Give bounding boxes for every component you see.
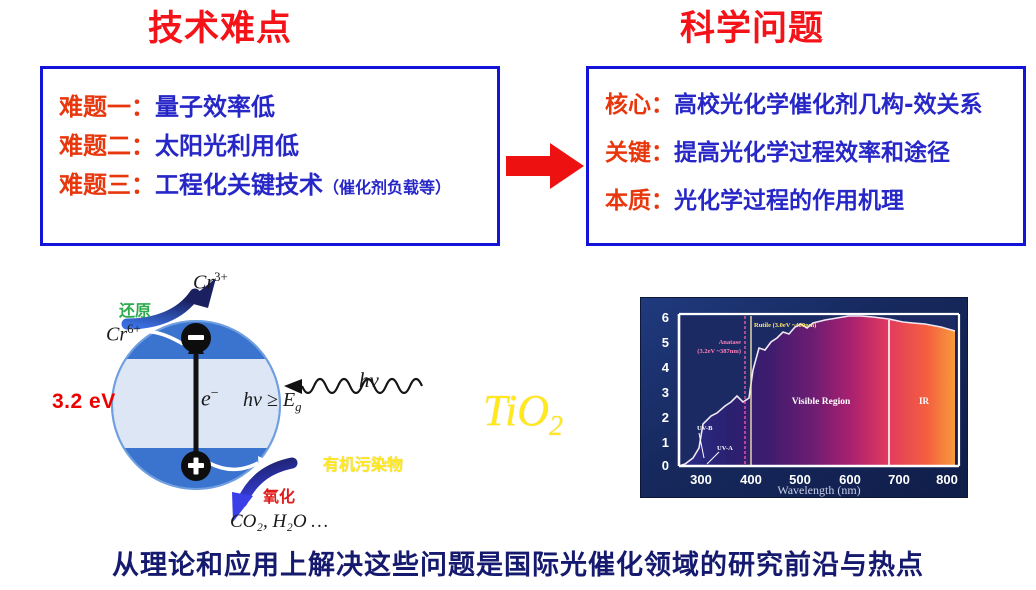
solar-spectrum-chart: 6 5 4 3 2 1 0 300 400 500 600 700 800 Vi… xyxy=(641,298,967,497)
difficulty-2-text: 太阳光利用低 xyxy=(155,126,299,161)
x-tick-label: 400 xyxy=(740,472,762,487)
question-3-label: 本质： xyxy=(605,181,674,215)
list-item: 难题一： 量子效率低 xyxy=(59,87,497,122)
question-list: 核心： 高校光化学催化剂几构-效关系 关键： 提高光化学过程效率和途径 本质： … xyxy=(589,69,1023,215)
pollutant-label: 有机污染物 xyxy=(323,451,403,475)
band-gap-value: 3.2 eV xyxy=(52,390,116,414)
oxidation-label: 氧化 xyxy=(263,483,295,507)
material-label-subscript: 2 xyxy=(549,411,563,442)
list-item: 难题三： 工程化关键技术 （催化剂负载等） xyxy=(59,165,497,200)
difficulty-3-text: 工程化关键技术 xyxy=(155,165,323,200)
question-2-label: 关键： xyxy=(605,133,674,167)
solar-spectrum-figure: 6 5 4 3 2 1 0 300 400 500 600 700 800 Vi… xyxy=(640,297,968,498)
visible-region-annotation: Visible Region xyxy=(792,397,851,407)
species-in-label: Cr6+ xyxy=(106,322,141,347)
photon-label: hν xyxy=(359,368,379,393)
excitation-condition-label: hν ≥ Eg xyxy=(243,389,301,415)
products-label: CO₂, H₂O … xyxy=(230,511,328,533)
x-axis-title: Wavelength (nm) xyxy=(777,483,860,497)
uv-b-annotation: UV-B xyxy=(697,425,713,432)
rutile-annotation: Rutile (3.0eV ~400nm) xyxy=(754,322,816,329)
x-tick-label: 800 xyxy=(936,472,958,487)
scientific-questions-panel: 核心： 高校光化学催化剂几构-效关系 关键： 提高光化学过程效率和途径 本质： … xyxy=(586,66,1026,246)
electron-symbol: e xyxy=(201,385,211,410)
electron-charge: − xyxy=(211,385,219,401)
list-item: 关键： 提高光化学过程效率和途径 xyxy=(605,133,1023,167)
species-out-label: Cr3+ xyxy=(193,270,228,295)
question-1-label: 核心： xyxy=(605,85,674,119)
y-tick-label: 3 xyxy=(662,385,669,400)
material-label: TiO2 xyxy=(483,385,563,443)
difficulty-list: 难题一： 量子效率低 难题二： 太阳光利用低 难题三： 工程化关键技术 （催化剂… xyxy=(43,69,497,200)
species-out-symbol: Cr xyxy=(193,272,214,294)
y-tick-label: 4 xyxy=(662,360,670,375)
excitation-condition-subscript: g xyxy=(295,400,301,414)
anatase-annotation-line1: Anatase xyxy=(719,339,742,346)
y-tick-label: 0 xyxy=(662,458,669,473)
species-in-charge: 6+ xyxy=(127,322,141,336)
x-tick-label: 300 xyxy=(690,472,712,487)
list-item: 核心： 高校光化学催化剂几构-效关系 xyxy=(605,85,1023,119)
y-tick-label: 2 xyxy=(662,410,669,425)
difficulty-3-label: 难题三： xyxy=(59,165,155,200)
right-section-title: 科学问题 xyxy=(680,8,824,50)
electron-label: e− xyxy=(201,385,219,411)
reduction-label: 还原 xyxy=(119,297,151,321)
material-label-text: TiO xyxy=(483,386,549,435)
anatase-annotation-line2: (3.2eV ~387nm) xyxy=(697,348,741,355)
hole-marker xyxy=(181,451,211,481)
excitation-condition-text: hν ≥ E xyxy=(243,389,295,411)
list-item: 难题二： 太阳光利用低 xyxy=(59,126,497,161)
y-tick-label: 6 xyxy=(662,310,669,325)
species-out-charge: 3+ xyxy=(214,270,228,284)
difficulty-2-label: 难题二： xyxy=(59,126,155,161)
x-tick-label: 700 xyxy=(888,472,910,487)
difficulty-1-label: 难题一： xyxy=(59,87,155,122)
species-in-symbol: Cr xyxy=(106,324,127,346)
y-tick-label: 1 xyxy=(662,435,669,450)
electron-marker xyxy=(181,323,211,353)
question-1-text: 高校光化学催化剂几构-效关系 xyxy=(674,85,983,119)
list-item: 本质： 光化学过程的作用机理 xyxy=(605,181,1023,215)
difficulty-1-text: 量子效率低 xyxy=(155,87,275,122)
question-2-text: 提高光化学过程效率和途径 xyxy=(674,133,950,167)
conclusion-text: 从理论和应用上解决这些问题是国际光催化领域的研究前沿与热点 xyxy=(0,543,1036,582)
left-section-title: 技术难点 xyxy=(148,8,292,50)
right-arrow-icon xyxy=(506,140,584,192)
ir-annotation: IR xyxy=(919,396,930,406)
question-3-text: 光化学过程的作用机理 xyxy=(674,181,904,215)
technical-difficulties-panel: 难题一： 量子效率低 难题二： 太阳光利用低 难题三： 工程化关键技术 （催化剂… xyxy=(40,66,500,246)
difficulty-3-note: （催化剂负载等） xyxy=(323,174,451,198)
photon-wave-icon xyxy=(284,379,422,394)
y-tick-label: 5 xyxy=(662,335,669,350)
uv-a-annotation: UV-A xyxy=(717,445,733,452)
